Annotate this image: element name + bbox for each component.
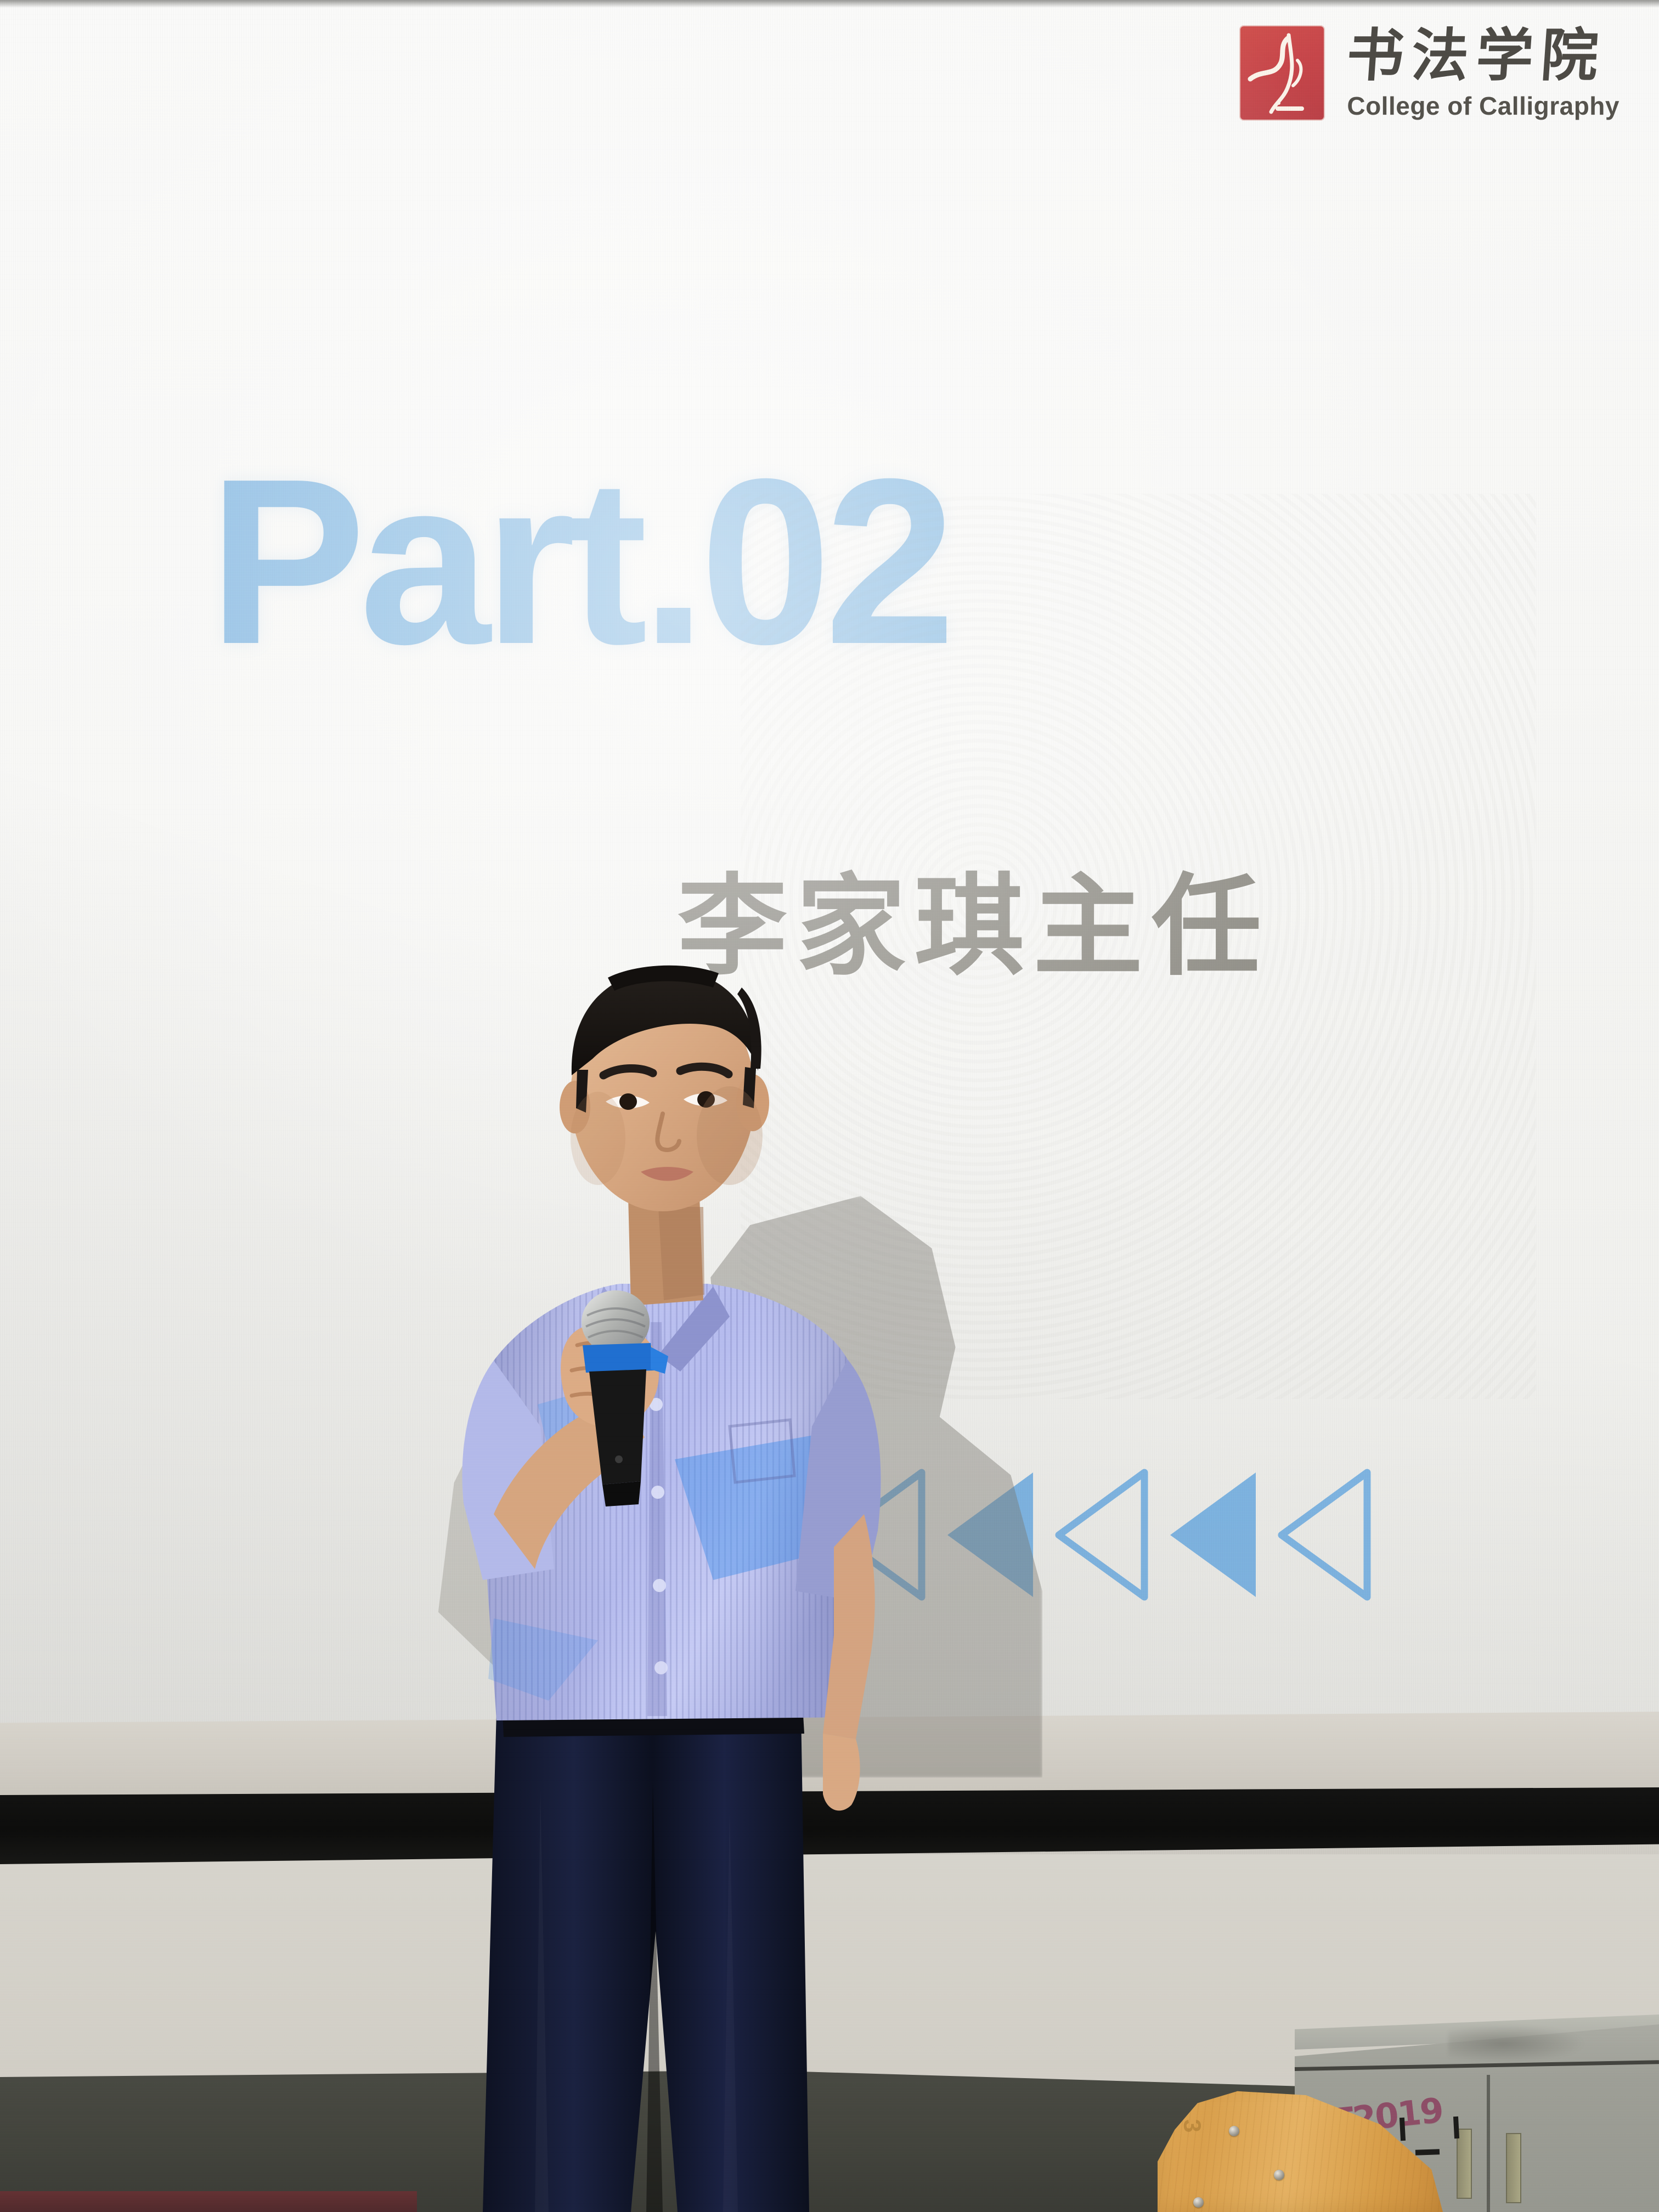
speaker-figure — [0, 0, 1659, 2212]
photo-scene: T2019 3 书法学院 — [0, 0, 1659, 2212]
speaker-hand-right — [823, 1734, 860, 1810]
speaker-eye-left — [619, 1093, 637, 1110]
microphone-band — [583, 1343, 654, 1373]
speaker-trousers — [483, 1711, 809, 2212]
